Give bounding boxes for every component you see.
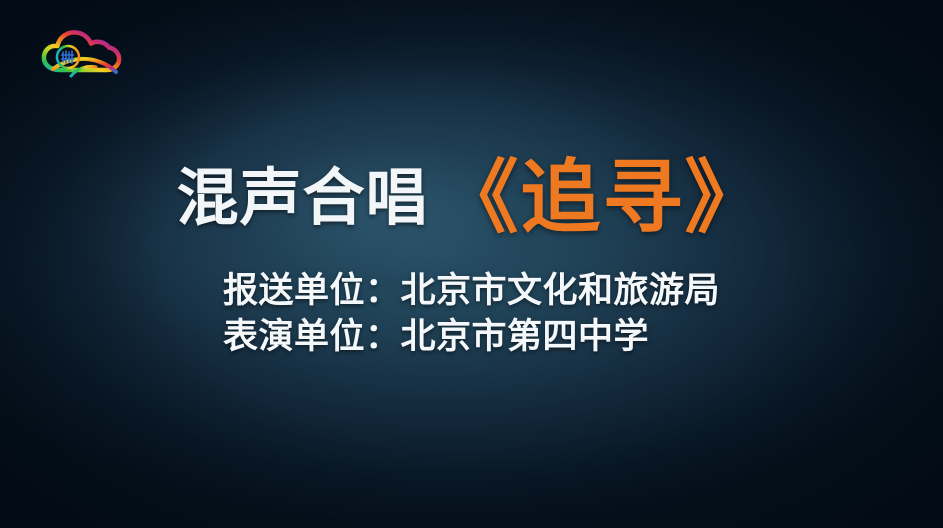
rainbow-cloud-logo: [38, 26, 126, 80]
credit-line-submitting-unit: 报送单位：北京市文化和旅游局: [223, 268, 720, 314]
slide-title: 混声合唱 《追寻》: [0, 152, 943, 232]
credit-line-performing-unit: 表演单位：北京市第四中学: [223, 314, 720, 360]
slide-credits: 报送单位：北京市文化和旅游局 表演单位：北京市第四中学: [0, 268, 943, 359]
slide-background-vignette: [0, 0, 943, 528]
credits-block: 报送单位：北京市文化和旅游局 表演单位：北京市第四中学: [223, 268, 720, 359]
title-genre-label: 混声合唱: [176, 168, 428, 230]
title-work-name: 《追寻》: [439, 158, 767, 238]
logo-badge-ring-icon: [57, 46, 79, 68]
presentation-slide: 混声合唱 《追寻》 报送单位：北京市文化和旅游局 表演单位：北京市第四中学: [0, 0, 943, 528]
